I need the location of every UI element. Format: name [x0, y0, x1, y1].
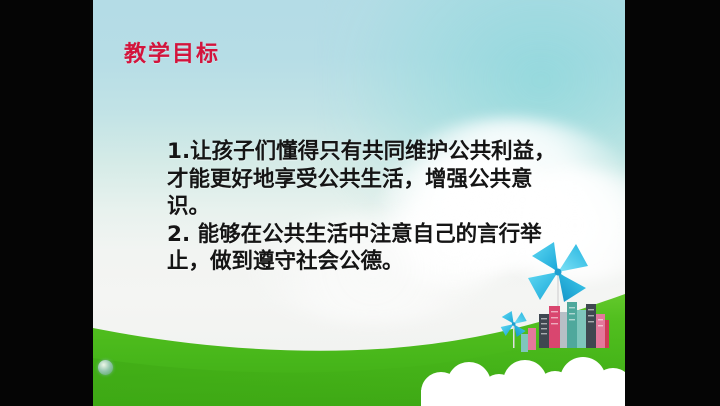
- bubble-decor: [98, 360, 113, 375]
- ground-cloud-decor: [421, 346, 625, 406]
- objective-line: 才能更好地享受公共生活，增强公共意: [167, 166, 543, 194]
- objective-line: 识。: [167, 193, 543, 221]
- green-hill-decor: [93, 286, 625, 406]
- objectives-text-block: 1.让孩子们懂得只有共同维护公共利益， 才能更好地享受公共生活，增强公共意 识。…: [167, 138, 543, 276]
- video-frame: 教学目标 1.让孩子们懂得只有共同维护公共利益， 才能更好地享受公共生活，增强公…: [0, 0, 720, 406]
- presentation-slide: 教学目标 1.让孩子们懂得只有共同维护公共利益， 才能更好地享受公共生活，增强公…: [93, 0, 625, 406]
- objective-line: 2. 能够在公共生活中注意自己的言行举: [167, 221, 543, 249]
- letterbox-right: [625, 0, 720, 406]
- objective-line: 止，做到遵守社会公德。: [167, 248, 543, 276]
- page-title: 教学目标: [124, 36, 220, 68]
- letterbox-left: [0, 0, 93, 406]
- objective-line: 1.让孩子们懂得只有共同维护公共利益，: [167, 138, 543, 166]
